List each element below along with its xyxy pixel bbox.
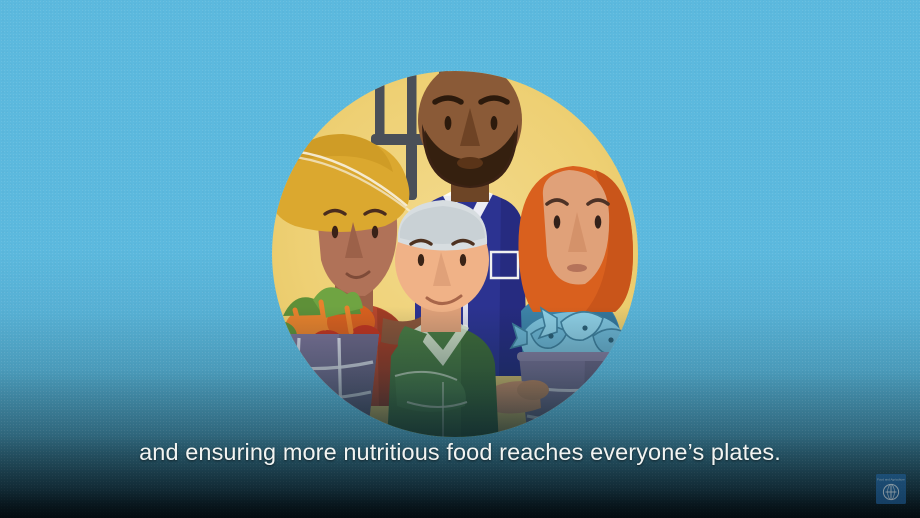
scene-illustration (255, 46, 665, 466)
video-frame: and ensuring more nutritious food reache… (0, 0, 920, 518)
svg-text:Food and Agriculture: Food and Agriculture (877, 478, 905, 482)
fao-watermark-logo: Food and Agriculture (876, 474, 906, 504)
